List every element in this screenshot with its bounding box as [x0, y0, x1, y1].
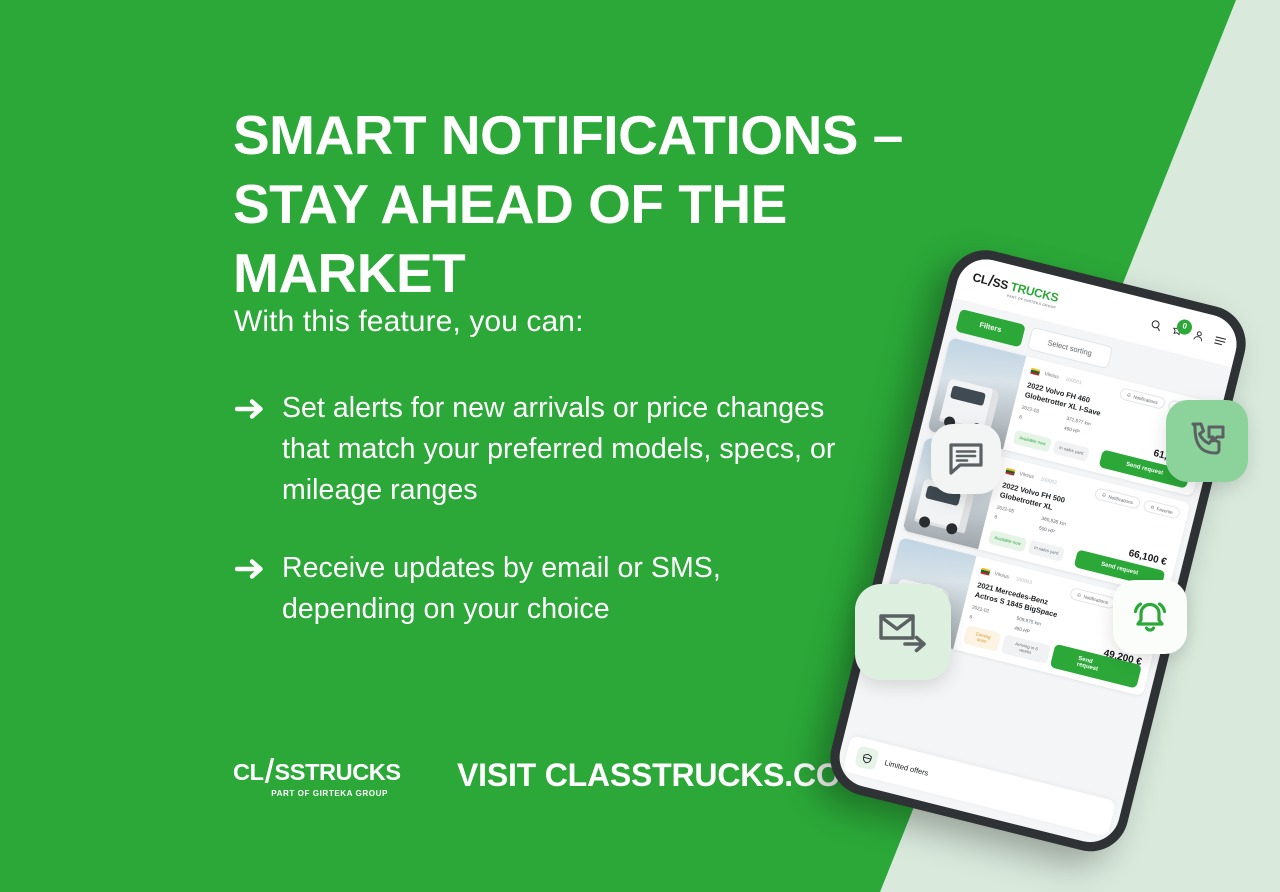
favorite-label: Favorite: [1156, 506, 1173, 515]
list-item: Receive updates by email or SMS, dependi…: [235, 548, 855, 630]
brand-logo-tagline: PART OF GIRTEKA GROUP: [233, 789, 388, 798]
user-account-icon[interactable]: [1192, 329, 1205, 342]
listing-actions: Notifications Favorite: [1094, 487, 1181, 520]
email-send-icon: [855, 584, 951, 680]
menu-icon[interactable]: [1214, 335, 1227, 346]
benefits-list: Set alerts for new arrivals or price cha…: [235, 388, 855, 668]
notifications-label: Notifications: [1133, 394, 1158, 405]
country-flag-icon: [980, 568, 990, 576]
limited-offers-label: Limited offers: [884, 758, 930, 778]
country-flag-icon: [1005, 468, 1015, 476]
notifications-toggle[interactable]: Notifications: [1119, 387, 1166, 410]
app-logo-ss: SS: [991, 276, 1009, 291]
brand-logo: CL SS TRUCKS PART OF GIRTEKA GROUP: [233, 755, 388, 798]
chat-bubble-icon: [931, 424, 1001, 494]
tag-offer-icon: [854, 745, 879, 770]
listing-stock-id: 100003: [1015, 576, 1033, 586]
availability-tag: Available now: [988, 530, 1027, 552]
notification-bell-icon: [1113, 580, 1187, 654]
truck-wheel: [918, 515, 931, 528]
truck-window: [950, 385, 986, 406]
listing-city: Vilnius: [1044, 371, 1060, 380]
list-item: Set alerts for new arrivals or price cha…: [235, 388, 855, 510]
listing-stock-id: 100002: [1040, 476, 1058, 486]
availability-tag: Coming soon: [963, 624, 1002, 651]
app-brand-logo[interactable]: CL SS TRUCKS PART OF GIRTEKA GROUP: [970, 269, 1060, 309]
brand-logo-cl: CL: [233, 761, 264, 785]
listing-city: Vilnius: [994, 571, 1010, 580]
listing-city: Vilnius: [1019, 471, 1035, 480]
notifications-label: Notifications: [1083, 594, 1108, 605]
brand-logo-wordmark: CL SS TRUCKS: [233, 755, 388, 785]
notifications-label: Notifications: [1108, 494, 1133, 505]
search-icon[interactable]: [1150, 318, 1163, 331]
headline-line-1: SMART NOTIFICATIONS –: [233, 101, 1033, 170]
location-tag: In sales yard: [1053, 440, 1090, 462]
favorite-star-icon[interactable]: 0: [1171, 323, 1184, 336]
arrow-right-icon: [235, 558, 265, 580]
lead-text: With this feature, you can:: [234, 305, 584, 339]
phone-support-icon: [1166, 400, 1248, 482]
app-header-actions: 0: [1150, 318, 1227, 347]
favorite-toggle[interactable]: Favorite: [1142, 499, 1181, 520]
phone-screen: CL SS TRUCKS PART OF GIRTEKA GROUP: [833, 253, 1243, 848]
brand-logo-trucks: TRUCKS: [305, 761, 401, 785]
notifications-toggle[interactable]: Notifications: [1069, 587, 1116, 610]
listing-stock-id: 100001: [1065, 376, 1083, 386]
truck-wheel: [945, 522, 958, 535]
arrow-right-icon: [235, 398, 265, 420]
availability-tag: Available now: [1013, 430, 1052, 452]
list-item-label: Receive updates by email or SMS, dependi…: [282, 548, 855, 630]
notifications-toggle[interactable]: Notifications: [1094, 487, 1141, 510]
promo-poster: SMART NOTIFICATIONS – STAY AHEAD OF THE …: [0, 0, 1280, 892]
brand-logo-slash-icon: [264, 758, 275, 783]
country-flag-icon: [1030, 368, 1040, 376]
brand-logo-ss: SS: [275, 761, 306, 785]
location-tag: In sales yard: [1028, 540, 1065, 562]
list-item-label: Set alerts for new arrivals or price cha…: [282, 388, 855, 510]
